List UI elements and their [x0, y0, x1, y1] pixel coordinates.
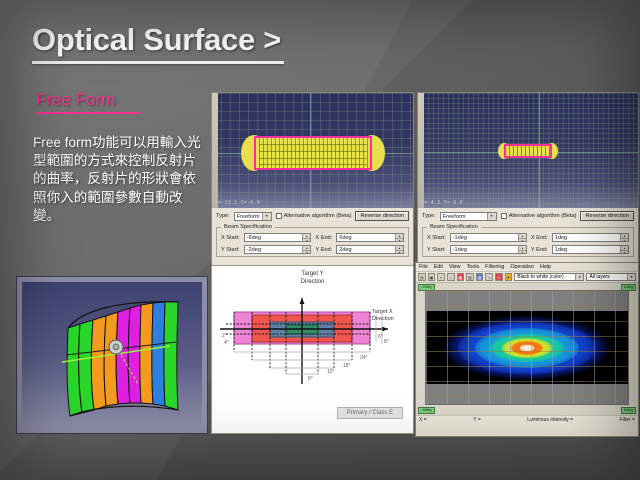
svg-text:24°: 24°: [360, 355, 368, 361]
status-filter: Filter =: [620, 417, 635, 423]
plot-gridlines: [426, 291, 628, 404]
reflector-geometry-wide[interactable]: [254, 136, 372, 170]
x-start-value: -1deg: [453, 235, 467, 241]
x-start-value: -6deg: [247, 235, 261, 241]
x-end-stepper[interactable]: ▲▼: [620, 234, 628, 241]
reflector-facet-core: [254, 136, 372, 170]
surface-type-select[interactable]: Freeform ▾: [440, 212, 497, 221]
intensity-plot-area[interactable]: [425, 290, 629, 405]
chevron-down-icon[interactable]: ▾: [575, 274, 583, 280]
y-end-label: Y End:: [315, 247, 332, 253]
chevron-down-icon[interactable]: ▾: [487, 213, 496, 220]
y-start-label: Y Start:: [427, 247, 446, 253]
menu-item-filtering[interactable]: Filtering: [485, 264, 504, 270]
presentation-slide: Optical Surface > Free Form Free form功能可…: [0, 0, 640, 480]
panel-reflector-wide[interactable]: X=-11.1 Y=-6.9 Type: Freeform ▾ Alternat…: [211, 92, 414, 264]
y-start-input[interactable]: -2deg ▲▼: [244, 245, 312, 254]
table-icon[interactable]: ▥: [466, 273, 474, 281]
marker-icon[interactable]: ✦: [505, 273, 513, 281]
corner-tab-min-bottom[interactable]: -10deg: [418, 407, 435, 414]
corner-tab-max-bottom[interactable]: 10deg: [621, 407, 636, 414]
y-start-label: Y Start:: [221, 247, 240, 253]
menu-item-edit[interactable]: Edit: [434, 264, 443, 270]
menu-item-file[interactable]: File: [419, 264, 428, 270]
chevron-down-icon[interactable]: ▾: [627, 274, 635, 280]
y-end-value: 2deg: [339, 247, 351, 253]
beam-specification-group: Beam Specification X Start: -1deg ▲▼ X E…: [422, 224, 634, 257]
measure-icon[interactable]: ⊥: [485, 273, 493, 281]
status-y: Y =: [473, 417, 481, 423]
colormap-value: Black to white (color): [517, 274, 563, 280]
surface-type-value: Freeform: [443, 214, 466, 220]
zoom-icon[interactable]: ⌕: [437, 273, 445, 281]
beam-specification-group: Beam Specification X Start: -6deg ▲▼ X E…: [216, 224, 409, 257]
menu-item-view[interactable]: View: [449, 264, 461, 270]
x-end-value: 1deg: [555, 235, 567, 241]
svg-text:2°: 2°: [222, 333, 227, 339]
type-label: Type:: [216, 213, 230, 219]
colormap-select[interactable]: Black to white (color) ▾: [514, 273, 584, 281]
viewport-coordinate-readout: X=-4.3 Y=-9.0: [421, 200, 463, 206]
alt-algorithm-checkbox[interactable]: Alternative algorithm (Beta): [276, 213, 352, 219]
chart-icon[interactable]: ▨: [476, 273, 484, 281]
slide-title-block: Optical Surface >: [32, 24, 362, 64]
statusbar: X = Y = Luminous intensity = Filter =: [416, 415, 638, 424]
layers-value: All layers: [589, 274, 609, 280]
y-end-value: 1deg: [555, 247, 567, 253]
svg-text:8°: 8°: [384, 339, 389, 345]
x-start-stepper[interactable]: ▲▼: [518, 234, 526, 241]
beam-spec-form-narrow[interactable]: Type: Freeform ▾ Alternative algorithm (…: [418, 208, 638, 265]
menu-item-operation[interactable]: Operation: [510, 264, 534, 270]
viewport-ruler-left: [212, 93, 218, 208]
body-paragraph: Free form功能可以用輸入光型範圍的方式來控制反射片的曲率，反射片的形狀會…: [33, 134, 209, 225]
checkbox-box-icon[interactable]: [276, 213, 282, 219]
reflector-geometry-narrow[interactable]: [504, 144, 552, 158]
title-underline: [32, 61, 284, 64]
cad-viewport-wide[interactable]: X=-11.1 Y=-6.9: [212, 93, 413, 208]
x-end-stepper[interactable]: ▲▼: [395, 234, 403, 241]
page-title: Optical Surface >: [32, 24, 362, 57]
y-end-input[interactable]: 1deg ▲▼: [552, 245, 629, 254]
panel-ies-viewer[interactable]: File Edit View Tools Filtering Operation…: [415, 262, 639, 437]
type-label: Type:: [422, 213, 436, 219]
status-intensity: Luminous intensity =: [527, 417, 573, 423]
svg-text:12°: 12°: [327, 369, 335, 375]
panel-target-diagram[interactable]: Target Y Direction Target X Direction: [211, 265, 414, 434]
alt-algorithm-checkbox[interactable]: Alternative algorithm (Beta): [501, 213, 577, 219]
intensity-plot-wrapper[interactable]: -10deg 10deg -10deg 10deg: [416, 283, 638, 415]
viewport-ruler-left: [418, 93, 424, 208]
subtitle-underline: [36, 112, 140, 114]
chevron-down-icon[interactable]: ▾: [262, 213, 271, 220]
surface-type-select[interactable]: Freeform ▾: [234, 212, 272, 221]
reverse-direction-button[interactable]: Reverse direction: [580, 211, 634, 221]
svg-text:18°: 18°: [343, 363, 351, 369]
x-start-label: X Start:: [427, 235, 446, 241]
x-end-value: 6deg: [339, 235, 351, 241]
beam-specification-legend: Beam Specification: [427, 224, 481, 230]
alt-algorithm-label: Alternative algorithm (Beta): [284, 213, 352, 219]
open-icon[interactable]: ▤: [418, 273, 426, 281]
menu-item-tools[interactable]: Tools: [467, 264, 480, 270]
y-start-stepper[interactable]: ▲▼: [518, 246, 526, 253]
freeform-surface-svg: [17, 277, 209, 435]
y-start-value: -2deg: [247, 247, 261, 253]
x-start-stepper[interactable]: ▲▼: [302, 234, 310, 241]
panel-reflector-narrow[interactable]: X=-4.3 Y=-9.0 Type: Freeform ▾ Alternati…: [417, 92, 639, 264]
status-x: X =: [419, 417, 427, 423]
menubar[interactable]: File Edit View Tools Filtering Operation…: [416, 263, 638, 272]
x-start-label: X Start:: [221, 235, 240, 241]
menu-item-help[interactable]: Help: [540, 264, 551, 270]
alt-algorithm-label: Alternative algorithm (Beta): [509, 213, 577, 219]
surface-type-value: Freeform: [237, 214, 260, 220]
x-end-label: X End:: [315, 235, 332, 241]
x-end-label: X End:: [531, 235, 548, 241]
x-start-input[interactable]: -1deg ▲▼: [450, 233, 527, 242]
y-start-input[interactable]: -1deg ▲▼: [450, 245, 527, 254]
save-icon[interactable]: ▣: [428, 273, 436, 281]
x-end-input[interactable]: 6deg ▲▼: [336, 233, 404, 242]
svg-text:4°: 4°: [224, 340, 229, 346]
reverse-direction-button[interactable]: Reverse direction: [355, 211, 409, 221]
beam-spec-form-wide[interactable]: Type: Freeform ▾ Alternative algorithm (…: [212, 208, 413, 265]
curve-icon[interactable]: ∿: [495, 273, 503, 281]
layers-select[interactable]: All layers ▾: [586, 273, 636, 281]
svg-text:6°: 6°: [308, 376, 313, 382]
cad-viewport-narrow[interactable]: X=-4.3 Y=-9.0: [418, 93, 638, 208]
viewport-coordinate-readout: X=-11.1 Y=-6.9: [215, 200, 260, 206]
x-start-input[interactable]: -6deg ▲▼: [244, 233, 312, 242]
section-subtitle: Free Form: [36, 90, 206, 110]
grid-icon[interactable]: ▦: [457, 273, 465, 281]
y-start-stepper[interactable]: ▲▼: [302, 246, 310, 253]
checkbox-box-icon[interactable]: [501, 213, 507, 219]
svg-text:6°: 6°: [378, 334, 383, 340]
y-end-input[interactable]: 2deg ▲▼: [336, 245, 404, 254]
panel-surface-3d-render[interactable]: [16, 276, 208, 434]
y-end-stepper[interactable]: ▲▼: [395, 246, 403, 253]
reflector-facet-core: [504, 144, 552, 158]
y-end-label: Y End:: [531, 247, 548, 253]
class-badge[interactable]: Primary / Class E: [337, 407, 403, 419]
toolbar[interactable]: ▤ ▣ ⌕ ⇔ ▦ ▥ ▨ ⊥ ∿ ✦ Black to white (colo…: [416, 272, 638, 283]
fit-icon[interactable]: ⇔: [447, 273, 455, 281]
y-start-value: -1deg: [453, 247, 467, 253]
beam-specification-legend: Beam Specification: [221, 224, 275, 230]
x-end-input[interactable]: 1deg ▲▼: [552, 233, 629, 242]
y-end-stepper[interactable]: ▲▼: [620, 246, 628, 253]
